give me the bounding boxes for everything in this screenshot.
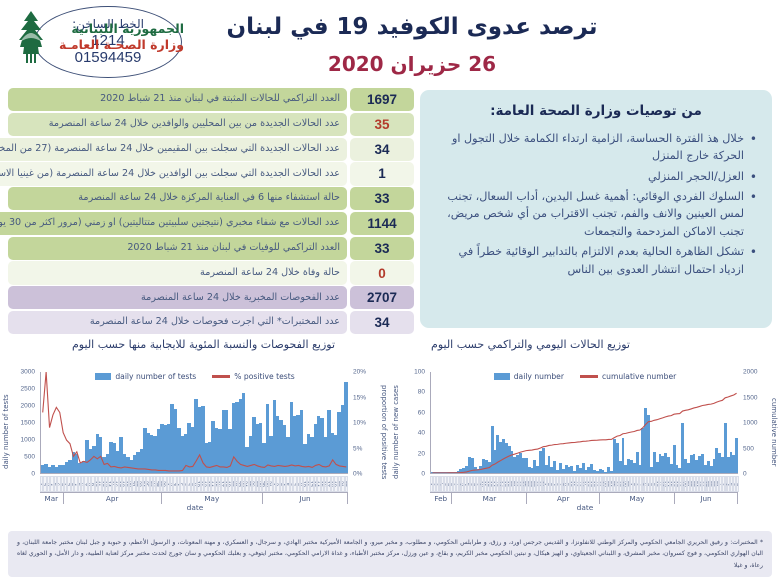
stat-label: عدد المختبرات* التي اجرت فحوصات خلال 24 …: [8, 311, 347, 334]
legend-item-bar: daily number of tests: [95, 372, 196, 381]
cases-chart-title: توزيع الحالات اليومي والتراكمي حسب اليوم: [431, 338, 630, 351]
x-axis-tick-band: 1234567891234567891011121314151617181920…: [430, 476, 738, 492]
stat-value: 35: [350, 113, 414, 136]
x-tick: 7: [736, 476, 739, 492]
x-axis-title: date: [390, 503, 780, 512]
stat-label: عدد الفحوصات المخبرية خلال 24 ساعة المنص…: [8, 286, 347, 309]
chart-legend: daily number of tests% positive tests: [0, 372, 390, 381]
list-item: خلال هذ الفترة الحساسة، الزامية ارتداء ا…: [432, 130, 744, 165]
stat-label: عدد الحالات الجديدة التي سجلت بين الوافد…: [0, 162, 347, 185]
table-row: 34عدد المختبرات* التي اجرت فحوصات خلال 2…: [8, 311, 414, 334]
y-axis-label-primary: daily number of new cases: [392, 380, 400, 484]
line-series: [431, 372, 738, 473]
table-row: 35عدد الحالات الجديدة من بين المحليين وا…: [8, 113, 414, 136]
list-item: تشكل الظاهرة الحالية بعدم الالتزام بالتد…: [432, 243, 744, 278]
y-axis-ticks-secondary: 20%15%10%5%0%: [353, 372, 377, 474]
stat-value: 33: [350, 237, 414, 260]
list-item: السلوك الفردي الوقائي: أهمية غسل اليدين،…: [432, 188, 744, 240]
table-row: 0حالة وفاة خلال 24 ساعة المنصرمة: [8, 261, 414, 284]
stat-value: 1: [350, 162, 414, 185]
legend-item-bar: daily number: [494, 372, 564, 381]
y-axis-label-secondary: cumulative number: [770, 380, 778, 484]
line-series: [41, 372, 348, 473]
stat-value: 0: [350, 261, 414, 284]
table-row: 1144عدد الحالات مع شفاء مخبري (نتيجتين س…: [8, 212, 414, 235]
report-date: 26 حزيران 2020: [212, 52, 612, 76]
cases-chart: daily number of new casescumulative numb…: [390, 358, 780, 510]
stat-label: حالة وفاة خلال 24 ساعة المنصرمة: [8, 261, 347, 284]
y-axis-ticks-primary: 100806040200: [403, 372, 425, 474]
infographic-page: الخط الساخن: 1214 01594459 ترصد عدوى الك…: [0, 0, 780, 585]
laboratories-footnote: * المختبرات: و رفيق الحريري الجامعي الحك…: [8, 531, 772, 577]
stat-value: 33: [350, 187, 414, 210]
table-row: 33حالة استشفاء منها 6 في العناية المركزة…: [8, 187, 414, 210]
legend-swatch-bar: [95, 373, 111, 380]
x-axis-tick-band: 1234567123456789101112131415161718192021…: [40, 476, 348, 492]
stat-value: 2707: [350, 286, 414, 309]
ministry-logo: الجمهورية اللبنانية وزارة الصحـة العامـة: [8, 6, 204, 68]
x-tick: 22: [345, 476, 348, 492]
stat-value: 1144: [350, 212, 414, 235]
stat-label: العدد التراكمي للوفيات في لبنان منذ 21 ش…: [8, 237, 347, 260]
page-title: ترصد عدوى الكوفيد 19 في لبنان: [212, 14, 612, 40]
cedar-tree-icon: [8, 9, 54, 65]
legend-item-line: % positive tests: [212, 372, 294, 381]
tests-chart-title: توزيع الفحوصات والنسبة المئوية للايجابية…: [72, 338, 335, 351]
y-axis-ticks-secondary: 2000150010005000: [743, 372, 767, 474]
stat-label: عدد الحالات مع شفاء مخبري (نتيجتين سلبيت…: [0, 212, 347, 235]
recommendations-title: من توصيات وزارة الصحة العامة:: [432, 103, 760, 119]
stat-label: عدد الحالات الجديدة من بين المحليين والو…: [8, 113, 347, 136]
legend-label: daily number of tests: [115, 372, 196, 381]
y-axis-label-secondary: proportion of positive tests: [380, 380, 388, 484]
recommendations-list: خلال هذ الفترة الحساسة، الزامية ارتداء ا…: [432, 130, 760, 278]
charts-row: daily number of new casescumulative numb…: [0, 358, 780, 510]
legend-item-line: cumulative number: [580, 372, 676, 381]
tests-chart: daily number of testsproportion of posit…: [0, 358, 390, 510]
y-axis-label-primary: daily number of tests: [2, 380, 10, 484]
recommendations-panel: من توصيات وزارة الصحة العامة: خلال هذ ال…: [420, 90, 772, 328]
stat-label: العدد التراكمي للحالات المثبتة في لبنان …: [8, 88, 347, 111]
table-row: 33العدد التراكمي للوفيات في لبنان منذ 21…: [8, 237, 414, 260]
chart-titles-row: توزيع الحالات اليومي والتراكمي حسب اليوم…: [0, 336, 780, 358]
legend-label: % positive tests: [234, 372, 294, 381]
table-row: 1عدد الحالات الجديدة التي سجلت بين الواف…: [8, 162, 414, 185]
list-item: العزل/الحجر المنزلي: [432, 168, 744, 185]
plot-area: [430, 372, 738, 474]
x-axis-title: date: [0, 503, 390, 512]
page-header: الخط الساخن: 1214 01594459 ترصد عدوى الك…: [0, 0, 780, 88]
stat-label: حالة استشفاء منها 6 في العناية المركزة خ…: [8, 187, 347, 210]
main-content: من توصيات وزارة الصحة العامة: خلال هذ ال…: [0, 88, 780, 336]
table-row: 2707عدد الفحوصات المخبرية خلال 24 ساعة ا…: [8, 286, 414, 309]
table-row: 1697العدد التراكمي للحالات المثبتة في لب…: [8, 88, 414, 111]
legend-label: daily number: [514, 372, 564, 381]
stat-value: 34: [350, 138, 414, 161]
legend-swatch-line: [212, 375, 230, 377]
legend-label: cumulative number: [602, 372, 676, 381]
ministry-logo-text: الجمهورية اللبنانية وزارة الصحـة العامـة: [59, 21, 184, 52]
stat-label: عدد الحالات الجديدة التي سجلت بين المقيم…: [0, 138, 347, 161]
legend-swatch-bar: [494, 373, 510, 380]
table-row: 34عدد الحالات الجديدة التي سجلت بين المق…: [8, 138, 414, 161]
logo-line-republic: الجمهورية اللبنانية: [59, 21, 184, 37]
plot-area: [40, 372, 348, 474]
stat-value: 34: [350, 311, 414, 334]
chart-legend: daily numbercumulative number: [390, 372, 780, 381]
statistics-table: 1697العدد التراكمي للحالات المثبتة في لب…: [8, 88, 414, 336]
stat-value: 1697: [350, 88, 414, 111]
legend-swatch-line: [580, 375, 598, 377]
y-axis-ticks-primary: 300025002000150010005000: [13, 372, 35, 474]
logo-line-ministry: وزارة الصحـة العامـة: [59, 37, 184, 53]
